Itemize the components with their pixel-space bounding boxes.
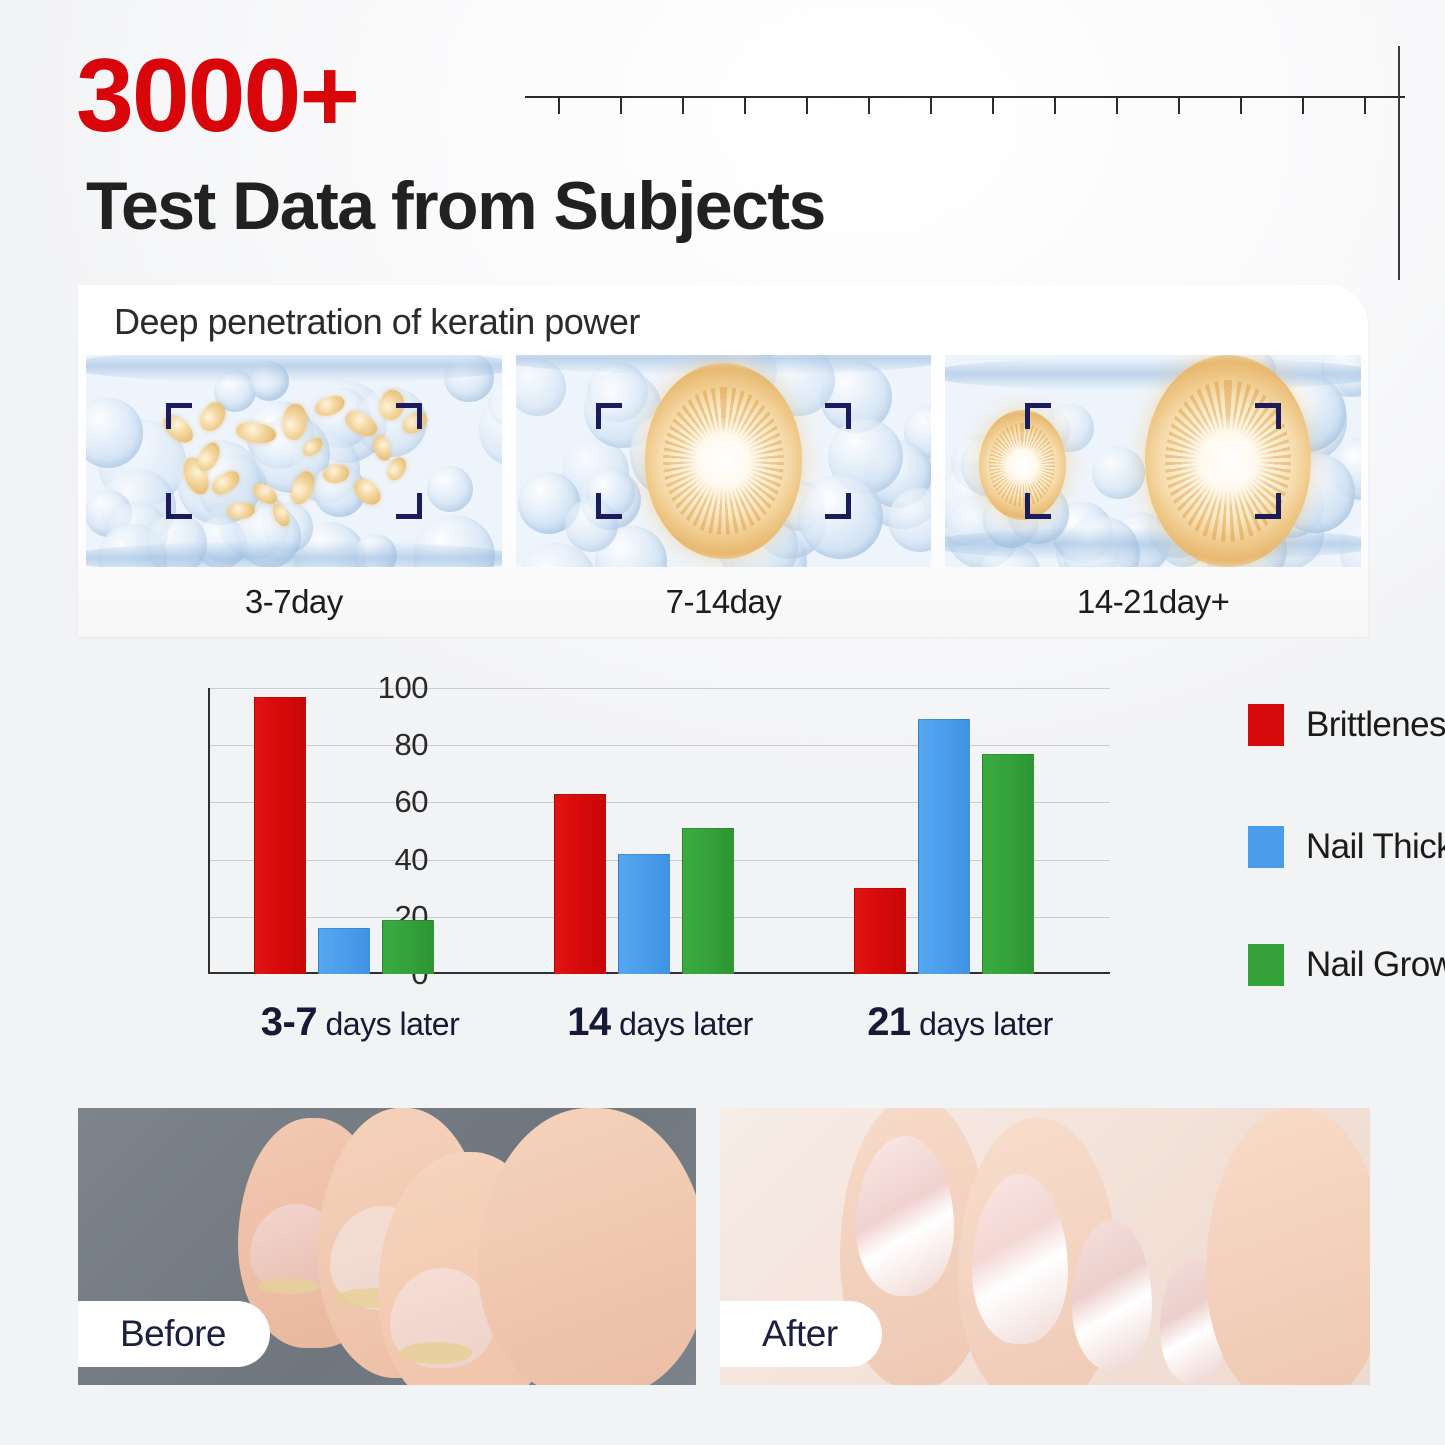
keratin-panel-label: 7-14day — [516, 575, 932, 629]
chart-bars — [210, 688, 1110, 974]
chart-x-label: 3-7 days later — [210, 1000, 510, 1045]
chart-bar — [854, 888, 906, 974]
chart-x-label-text: days later — [611, 1006, 753, 1042]
legend-item: Brittleness — [1248, 704, 1445, 746]
chart-bar-group — [210, 688, 510, 974]
legend-label: Brittleness — [1306, 705, 1445, 745]
chart-bar — [682, 828, 734, 974]
before-photo: Before — [78, 1108, 696, 1385]
chart-bar — [318, 928, 370, 974]
bracket-top-left — [1025, 403, 1051, 429]
chart-bar-group — [810, 688, 1110, 974]
keratin-two-spheres-icon — [945, 355, 1361, 567]
ruler-tick — [744, 97, 746, 114]
ruler-tick — [1302, 97, 1304, 114]
chart-x-label-number: 14 — [567, 1000, 611, 1044]
keratin-sphere-icon — [516, 355, 932, 567]
chart-x-label-number: 3-7 — [261, 1000, 317, 1044]
keratin-panel-7-14day — [516, 355, 932, 567]
chart-x-axis-labels: 3-7 days later14 days later21 days later — [210, 1000, 1110, 1045]
ruler-tick — [806, 97, 808, 114]
chart-x-label: 21 days later — [810, 1000, 1110, 1045]
ruler-tick — [1178, 97, 1180, 114]
cell-shape — [479, 392, 502, 467]
bracket-top-left — [166, 403, 192, 429]
keratin-panel-3-7day — [86, 355, 502, 567]
ruler-vertical-line — [1398, 46, 1400, 280]
chart-bar-group — [510, 688, 810, 974]
bracket-top-left — [596, 403, 622, 429]
keratin-card: Deep penetration of keratin power — [78, 285, 1368, 637]
ruler-tick — [1116, 97, 1118, 114]
after-label: After — [720, 1301, 882, 1367]
ruler-baseline — [525, 96, 1405, 98]
legend-label: Nail Growth — [1306, 945, 1445, 985]
legend-item: Nail Thickness — [1248, 826, 1445, 868]
bracket-bottom-left — [1025, 493, 1051, 519]
infographic-root: 3000+ Test Data from Subjects Deep penet… — [0, 0, 1445, 1445]
ruler-tick — [1054, 97, 1056, 114]
legend-label: Nail Thickness — [1306, 827, 1445, 867]
chart-x-label-text: days later — [911, 1006, 1053, 1042]
bracket-top-right — [825, 403, 851, 429]
keratin-panel-label: 14-21day+ — [945, 575, 1361, 629]
ruler-decoration — [525, 86, 1405, 116]
bracket-bottom-right — [825, 493, 851, 519]
ruler-tick — [620, 97, 622, 114]
ruler-tick — [1364, 97, 1366, 114]
legend-item: Nail Growth — [1248, 944, 1445, 986]
page-title: Test Data from Subjects — [86, 172, 825, 240]
bracket-top-right — [396, 403, 422, 429]
chart-legend: BrittlenessNail ThicknessNail Growth — [1248, 686, 1445, 976]
bracket-top-right — [1255, 403, 1281, 429]
keratin-card-title: Deep penetration of keratin power — [114, 301, 640, 343]
legend-swatch — [1248, 704, 1284, 746]
chart-bar — [982, 754, 1034, 974]
results-bar-chart: 020406080100 3-7 days later14 days later… — [140, 678, 1410, 1068]
keratin-panel-row — [86, 355, 1361, 567]
after-photo: After — [720, 1108, 1370, 1385]
ruler-tick — [558, 97, 560, 114]
chart-bar — [382, 920, 434, 974]
chart-bar — [254, 697, 306, 974]
legend-swatch — [1248, 826, 1284, 868]
cell-shape — [1092, 447, 1144, 499]
chart-x-label-number: 21 — [867, 1000, 911, 1044]
chart-x-label: 14 days later — [510, 1000, 810, 1045]
keratin-particles-icon — [86, 355, 502, 567]
chart-x-label-text: days later — [317, 1006, 459, 1042]
keratin-panel-14-21day — [945, 355, 1361, 567]
keratin-panel-labels: 3-7day 7-14day 14-21day+ — [86, 575, 1361, 629]
ruler-tick — [1240, 97, 1242, 114]
legend-swatch — [1248, 944, 1284, 986]
chart-bar — [554, 794, 606, 974]
keratin-panel-label: 3-7day — [86, 575, 502, 629]
stat-number: 3000+ — [76, 44, 358, 148]
chart-bar — [918, 719, 970, 974]
bracket-bottom-right — [396, 493, 422, 519]
bracket-bottom-left — [166, 493, 192, 519]
cell-shape — [427, 466, 473, 512]
ruler-tick — [930, 97, 932, 114]
chart-bar — [618, 854, 670, 974]
bracket-bottom-left — [596, 493, 622, 519]
ruler-tick — [992, 97, 994, 114]
ruler-tick — [682, 97, 684, 114]
before-label: Before — [78, 1301, 270, 1367]
bracket-bottom-right — [1255, 493, 1281, 519]
ruler-tick — [868, 97, 870, 114]
